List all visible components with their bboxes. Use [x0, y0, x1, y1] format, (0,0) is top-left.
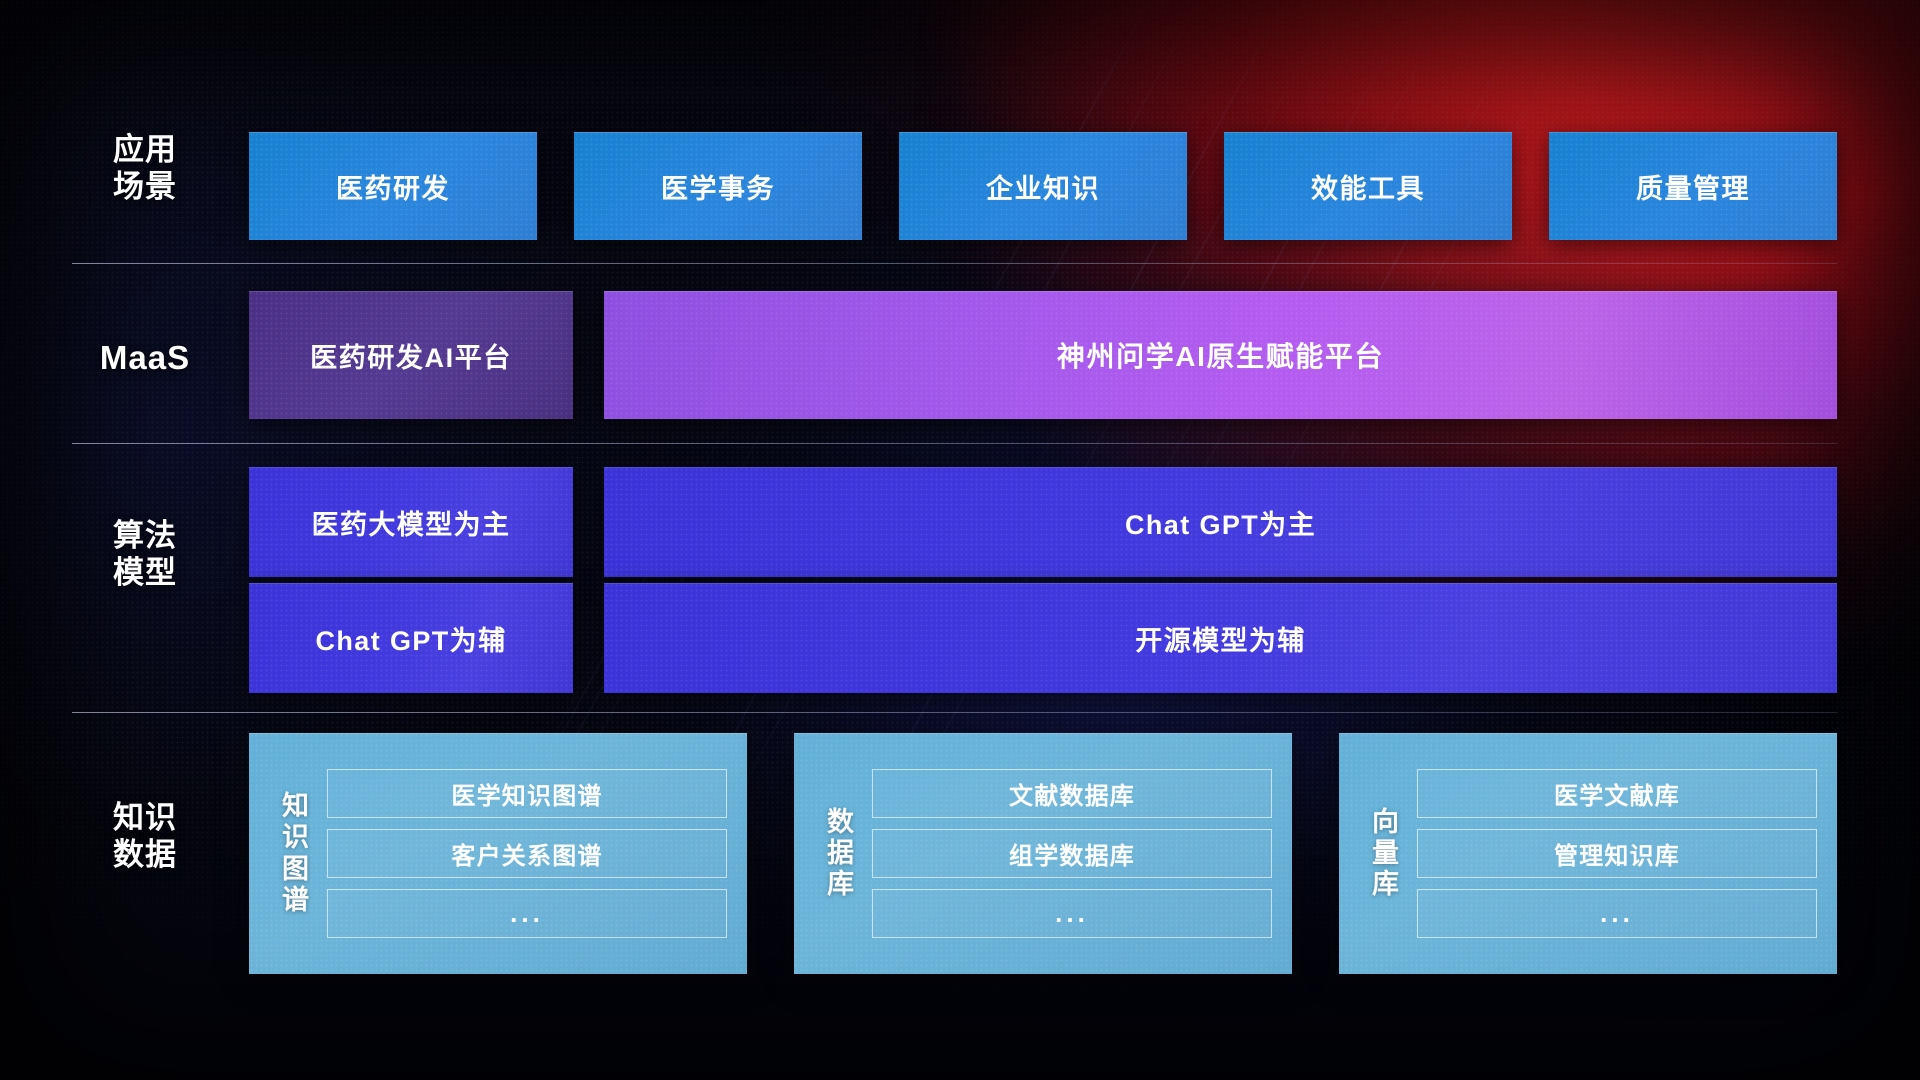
app-box-medical-affairs[interactable]: 医学事务 — [574, 132, 862, 240]
row-label-maas: MaaS — [60, 339, 230, 378]
knowledge-item-literature-database[interactable]: 文献数据库 — [872, 769, 1272, 818]
app-box-efficiency-tools[interactable]: 效能工具 — [1224, 132, 1512, 240]
algo-box-medicine-large-model-primary[interactable]: 医药大模型为主 — [249, 467, 573, 577]
architecture-diagram: 应用 场景 医药研发 医学事务 企业知识 效能工具 质量管理 MaaS 医药研发… — [0, 0, 1920, 1080]
row-label-knowledge-data: 知识 数据 — [60, 800, 230, 873]
knowledge-item-medical-knowledge-graph[interactable]: 医学知识图谱 — [327, 769, 727, 818]
maas-box-medicine-rd-ai-platform[interactable]: 医药研发AI平台 — [249, 291, 573, 419]
divider-maas-algorithm — [72, 443, 1837, 444]
row-label-application-scenarios: 应用 场景 — [60, 132, 230, 205]
algo-box-chatgpt-primary[interactable]: Chat GPT为主 — [604, 467, 1837, 577]
knowledge-item-more[interactable]: ... — [1417, 889, 1817, 938]
knowledge-group-knowledge-graph[interactable]: 知 识 图 谱 医学知识图谱 客户关系图谱 ... — [249, 733, 747, 974]
app-box-enterprise-knowledge[interactable]: 企业知识 — [899, 132, 1187, 240]
knowledge-item-more[interactable]: ... — [327, 889, 727, 938]
knowledge-item-customer-relation-graph[interactable]: 客户关系图谱 — [327, 829, 727, 878]
app-box-quality-management[interactable]: 质量管理 — [1549, 132, 1837, 240]
knowledge-item-list: 文献数据库 组学数据库 ... — [872, 769, 1272, 938]
knowledge-group-label-database: 数 据 库 — [810, 807, 872, 901]
knowledge-group-database[interactable]: 数 据 库 文献数据库 组学数据库 ... — [794, 733, 1292, 974]
knowledge-item-management-knowledge-store[interactable]: 管理知识库 — [1417, 829, 1817, 878]
row-label-algorithm-model: 算法 模型 — [60, 518, 230, 591]
knowledge-item-omics-database[interactable]: 组学数据库 — [872, 829, 1272, 878]
divider-algorithm-knowledge — [72, 712, 1837, 713]
knowledge-group-label-knowledge-graph: 知 识 图 谱 — [265, 791, 327, 916]
knowledge-group-label-vector-store: 向 量 库 — [1355, 807, 1417, 901]
knowledge-group-vector-store[interactable]: 向 量 库 医学文献库 管理知识库 ... — [1339, 733, 1837, 974]
algo-box-open-source-secondary[interactable]: 开源模型为辅 — [604, 583, 1837, 693]
knowledge-item-list: 医学知识图谱 客户关系图谱 ... — [327, 769, 727, 938]
knowledge-item-list: 医学文献库 管理知识库 ... — [1417, 769, 1817, 938]
algo-box-chatgpt-secondary[interactable]: Chat GPT为辅 — [249, 583, 573, 693]
maas-box-shenzhou-wenxue-platform[interactable]: 神州问学AI原生赋能平台 — [604, 291, 1837, 419]
knowledge-item-more[interactable]: ... — [872, 889, 1272, 938]
knowledge-item-medical-literature-store[interactable]: 医学文献库 — [1417, 769, 1817, 818]
divider-application-maas — [72, 263, 1837, 264]
app-box-medicine-rd[interactable]: 医药研发 — [249, 132, 537, 240]
